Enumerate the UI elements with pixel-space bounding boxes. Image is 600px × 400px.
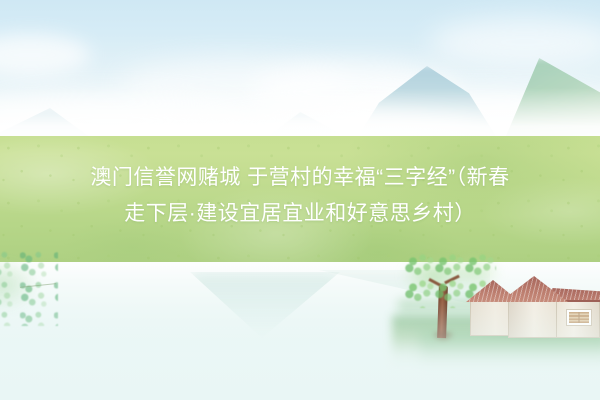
foliage-leaves	[0, 250, 58, 326]
illustration-banner: 澳门信誉网赌城 于营村的幸福“三字经”（新春 走下层·建设宜居宜业和好意思乡村）	[0, 0, 600, 400]
left-edge-foliage	[0, 250, 58, 326]
farmhouse	[468, 278, 600, 340]
title-line-2: 走下层·建设宜居宜业和好意思乡村）	[0, 196, 600, 232]
house-window	[566, 309, 592, 326]
title-line-1: 澳门信誉网赌城 于营村的幸福“三字经”（新春	[0, 160, 600, 196]
tree-root-shadow	[432, 332, 454, 342]
banner-title: 澳门信誉网赌城 于营村的幸福“三字经”（新春 走下层·建设宜居宜业和好意思乡村）	[0, 160, 600, 232]
window-shutter-slats	[569, 312, 589, 323]
